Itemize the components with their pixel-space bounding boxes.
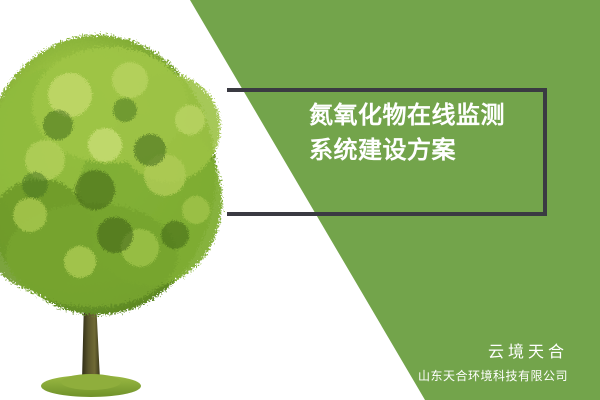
footer-brand: 云境天合 山东天合环境科技有限公司 [418,342,568,386]
brand-name: 云境天合 [418,342,568,364]
slide-title: 氮氧化物在线监测 系统建设方案 [309,98,549,168]
brand-company-name: 山东天合环境科技有限公司 [418,366,568,386]
title-frame-bottom-rule [253,212,547,216]
title-frame-top-rule [227,88,547,92]
slide-title-line-1: 氮氧化物在线监测 [309,98,549,133]
tree-base-grass [41,374,141,397]
tree-illustration [0,0,250,400]
title-slide: 氮氧化物在线监测 系统建设方案 云境天合 山东天合环境科技有限公司 [0,0,600,400]
slide-title-line-2: 系统建设方案 [309,133,549,168]
